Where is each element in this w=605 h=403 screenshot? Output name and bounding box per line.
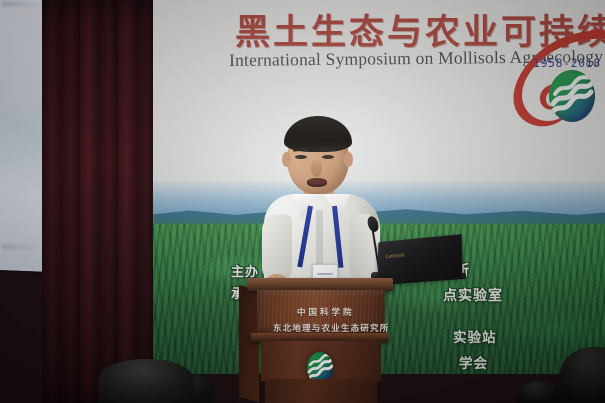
photo-scene: 黑土生态与农业可持续发 International Symposium on M…	[0, 0, 605, 403]
speaker-nose	[311, 160, 322, 177]
speaker-podium: 中国科学院 东北地理与农业生态研究所	[255, 278, 385, 403]
speaker-eye-right	[322, 155, 334, 159]
podium-base-skirt	[265, 379, 377, 403]
projection-screen	[0, 0, 47, 275]
podium-side-panel	[239, 285, 259, 402]
badge-line-1	[317, 273, 333, 275]
speaker-hair	[284, 116, 352, 152]
screen-glare	[0, 0, 44, 272]
podium-institution-line-1: 中国科学院	[297, 306, 355, 318]
speaker-eye-left	[295, 155, 307, 159]
laptop-screen[interactable]: Lenovo	[378, 234, 463, 284]
speaker-ear-left	[282, 152, 291, 167]
curtain-shading	[42, 0, 159, 403]
stage-curtain-left	[42, 0, 159, 403]
speaker-sleeve-left	[262, 214, 292, 280]
speaker-mouth	[307, 178, 327, 187]
laptop-brand-label: Lenovo	[386, 253, 405, 261]
audience-head	[98, 359, 194, 403]
speaker-ear-right	[344, 152, 353, 167]
podium-front-panel: 中国科学院 东北地理与农业生态研究所	[257, 290, 385, 334]
audience-head	[516, 381, 560, 403]
